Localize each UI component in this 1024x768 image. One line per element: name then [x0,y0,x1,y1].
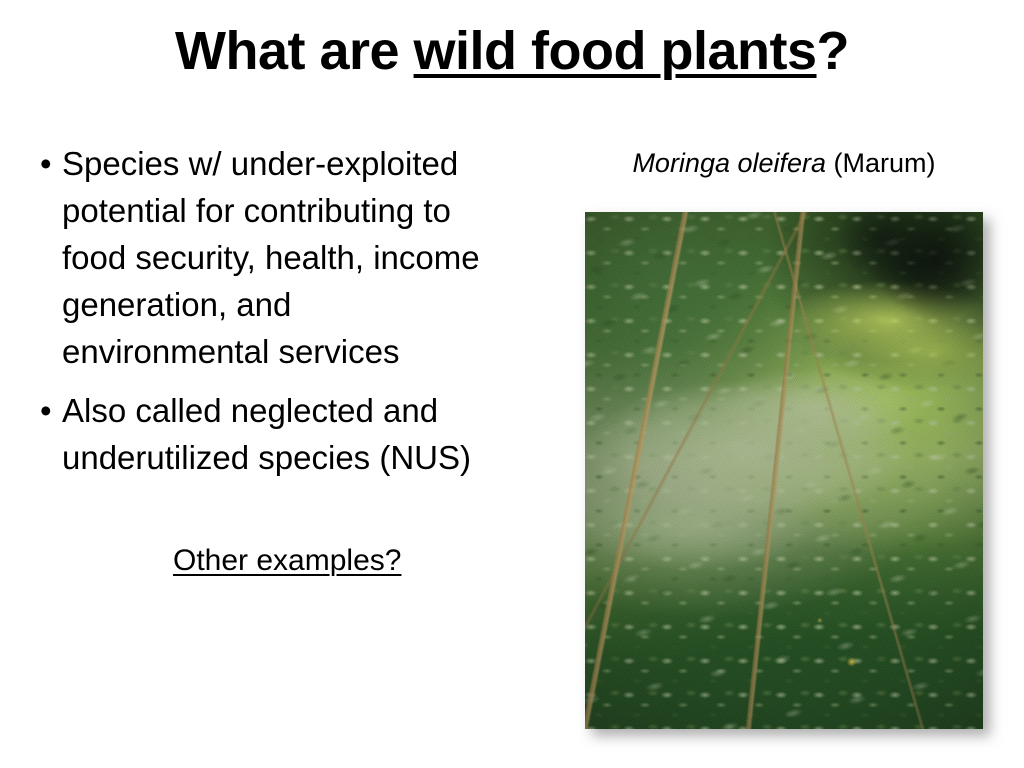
other-examples-prompt: Other examples? [173,541,401,581]
bullet-text: Species w/ under-exploited potential for… [62,140,498,375]
bullet-marker-icon: • [28,387,62,434]
title-text-underlined: wild food plants [414,21,817,81]
body-text-column: • Species w/ under-exploited potential f… [28,140,498,581]
bullet-marker-icon: • [28,140,62,187]
title-text-before: What are [175,21,414,81]
title-text-after: ? [817,21,850,81]
caption-common-name: (Marum) [826,148,936,178]
page-title: What are wild food plants? [0,22,1024,81]
bullet-text: Also called neglected and underutilized … [62,387,498,481]
list-item: • Also called neglected and underutilize… [28,387,498,481]
slide-canvas: What are wild food plants? • Species w/ … [0,0,1024,768]
list-item: • Species w/ under-exploited potential f… [28,140,498,375]
figure-caption: Moringa oleifera (Marum) [585,146,983,180]
prompt-row: Other examples? [28,541,498,581]
caption-scientific-name: Moringa oleifera [632,148,826,178]
moringa-photo [585,212,983,729]
photo-layer-vignette [585,212,983,729]
